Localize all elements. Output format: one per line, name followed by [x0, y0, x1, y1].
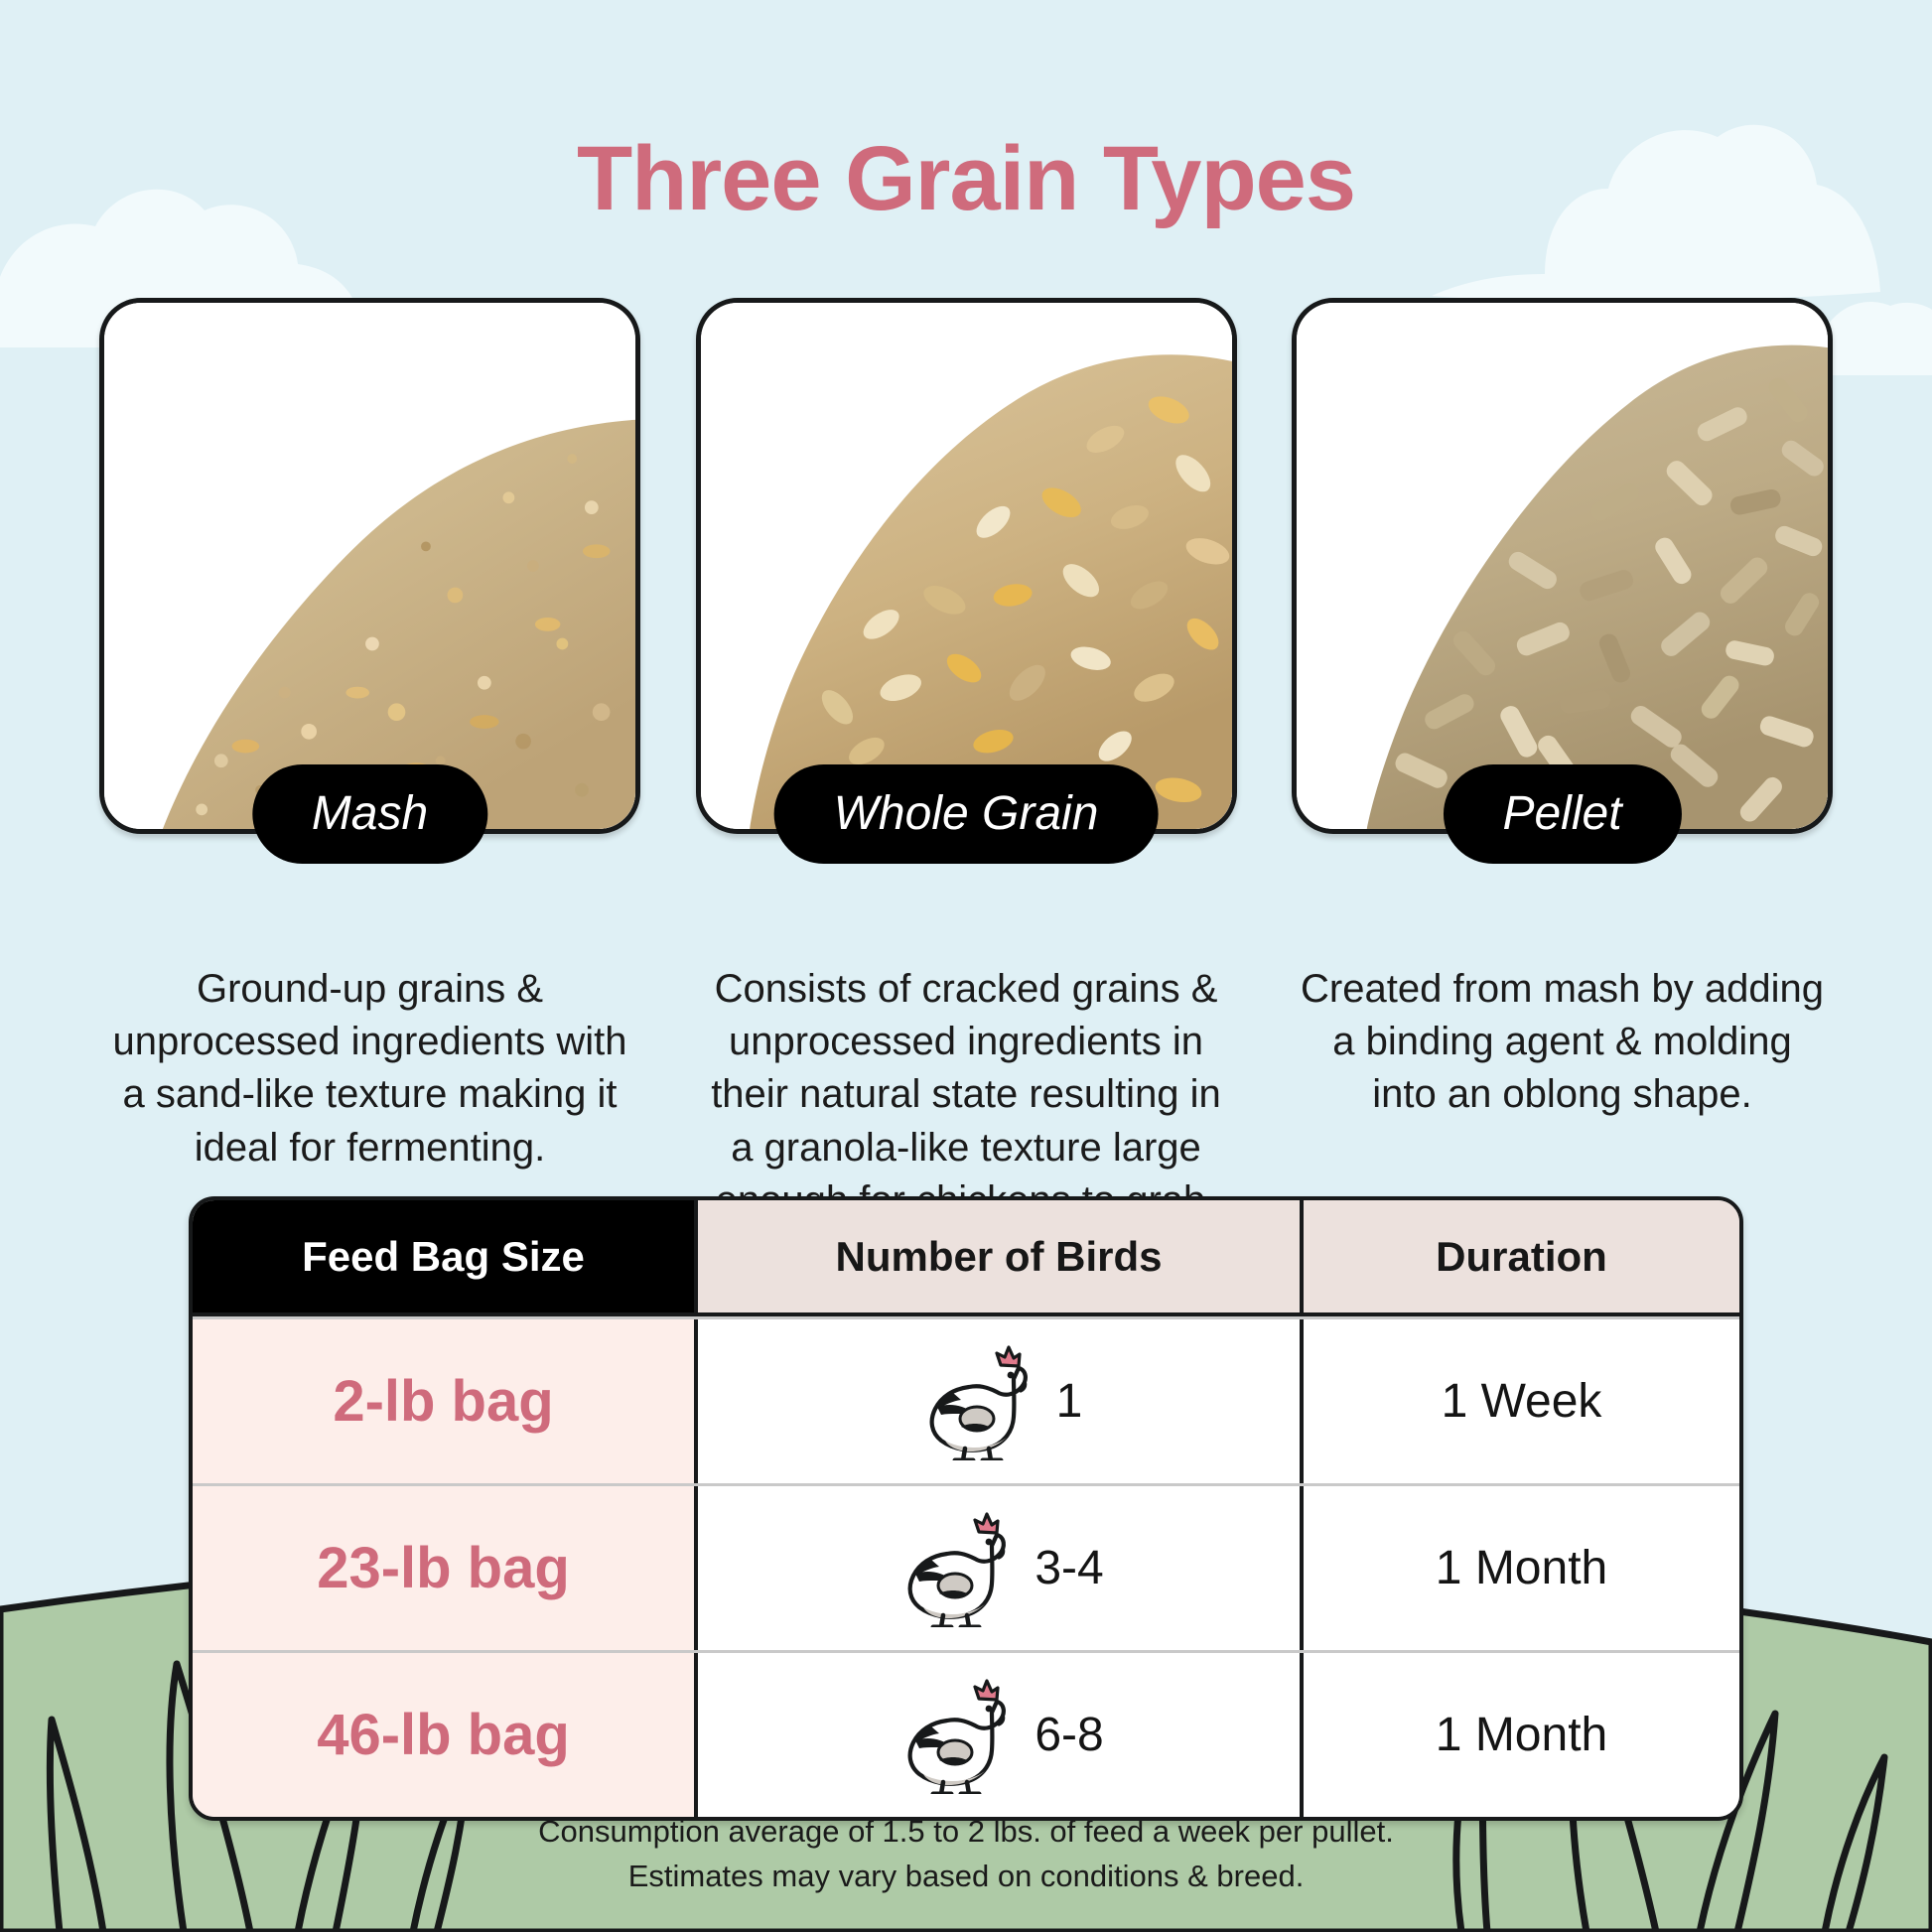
table-header-row: Feed Bag Size Number of Birds Duration: [193, 1200, 1739, 1316]
grain-card-whole-grain: Whole Grain Consists of cracked grains &…: [696, 298, 1237, 1227]
grain-card-pellet: Pellet Created from mash by adding a bin…: [1292, 298, 1833, 1227]
cell-feed-bag-size: 23-lb bag: [193, 1486, 694, 1650]
grain-description-whole-grain: Consists of cracked grains & unprocessed…: [696, 963, 1237, 1227]
cell-duration: 1 Month: [1300, 1653, 1739, 1817]
grain-image-frame-whole-grain: [696, 298, 1237, 834]
grain-description-mash: Ground-up grains & unprocessed ingredien…: [99, 963, 640, 1174]
cell-feed-bag-size: 2-lb bag: [193, 1319, 694, 1483]
table-row: 2-lb bag 1 1 Week: [193, 1316, 1739, 1483]
pellet-photo: [1297, 303, 1828, 829]
column-header-number-of-birds: Number of Birds: [694, 1200, 1300, 1312]
bird-count-value: 6-8: [1035, 1708, 1103, 1762]
table-row: 23-lb bag 3-4 1 Month: [193, 1483, 1739, 1650]
feed-bag-table: Feed Bag Size Number of Birds Duration 2…: [189, 1196, 1743, 1821]
grain-label-pellet: Pellet: [1443, 764, 1681, 864]
whole-grain-photo: [701, 303, 1232, 829]
footnote-line-2: Estimates may vary based on conditions &…: [0, 1855, 1932, 1899]
cell-number-of-birds: 3-4: [694, 1486, 1300, 1650]
column-header-duration: Duration: [1300, 1200, 1739, 1312]
table-row: 46-lb bag 6-8 1 Month: [193, 1650, 1739, 1817]
bird-count-value: 3-4: [1035, 1541, 1103, 1595]
grain-label-mash: Mash: [252, 764, 487, 864]
cell-number-of-birds: 6-8: [694, 1653, 1300, 1817]
cell-feed-bag-size: 46-lb bag: [193, 1653, 694, 1817]
cell-duration: 1 Month: [1300, 1486, 1739, 1650]
hen-icon: [915, 1343, 1035, 1460]
hen-icon: [894, 1510, 1013, 1627]
column-header-feed-bag-size: Feed Bag Size: [193, 1200, 694, 1312]
page-title: Three Grain Types: [0, 127, 1932, 231]
cell-number-of-birds: 1: [694, 1319, 1300, 1483]
footnote-line-1: Consumption average of 1.5 to 2 lbs. of …: [0, 1810, 1932, 1855]
grain-label-whole-grain: Whole Grain: [774, 764, 1159, 864]
hen-icon: [894, 1677, 1013, 1794]
cell-duration: 1 Week: [1300, 1319, 1739, 1483]
mash-grain-photo: [104, 303, 635, 829]
grain-type-cards: Mash Ground-up grains & unprocessed ingr…: [99, 298, 1833, 1227]
grain-description-pellet: Created from mash by adding a binding ag…: [1292, 963, 1833, 1122]
footnote: Consumption average of 1.5 to 2 lbs. of …: [0, 1810, 1932, 1899]
grain-image-frame-mash: [99, 298, 640, 834]
grain-card-mash: Mash Ground-up grains & unprocessed ingr…: [99, 298, 640, 1227]
grain-image-frame-pellet: [1292, 298, 1833, 834]
bird-count-value: 1: [1056, 1374, 1083, 1429]
